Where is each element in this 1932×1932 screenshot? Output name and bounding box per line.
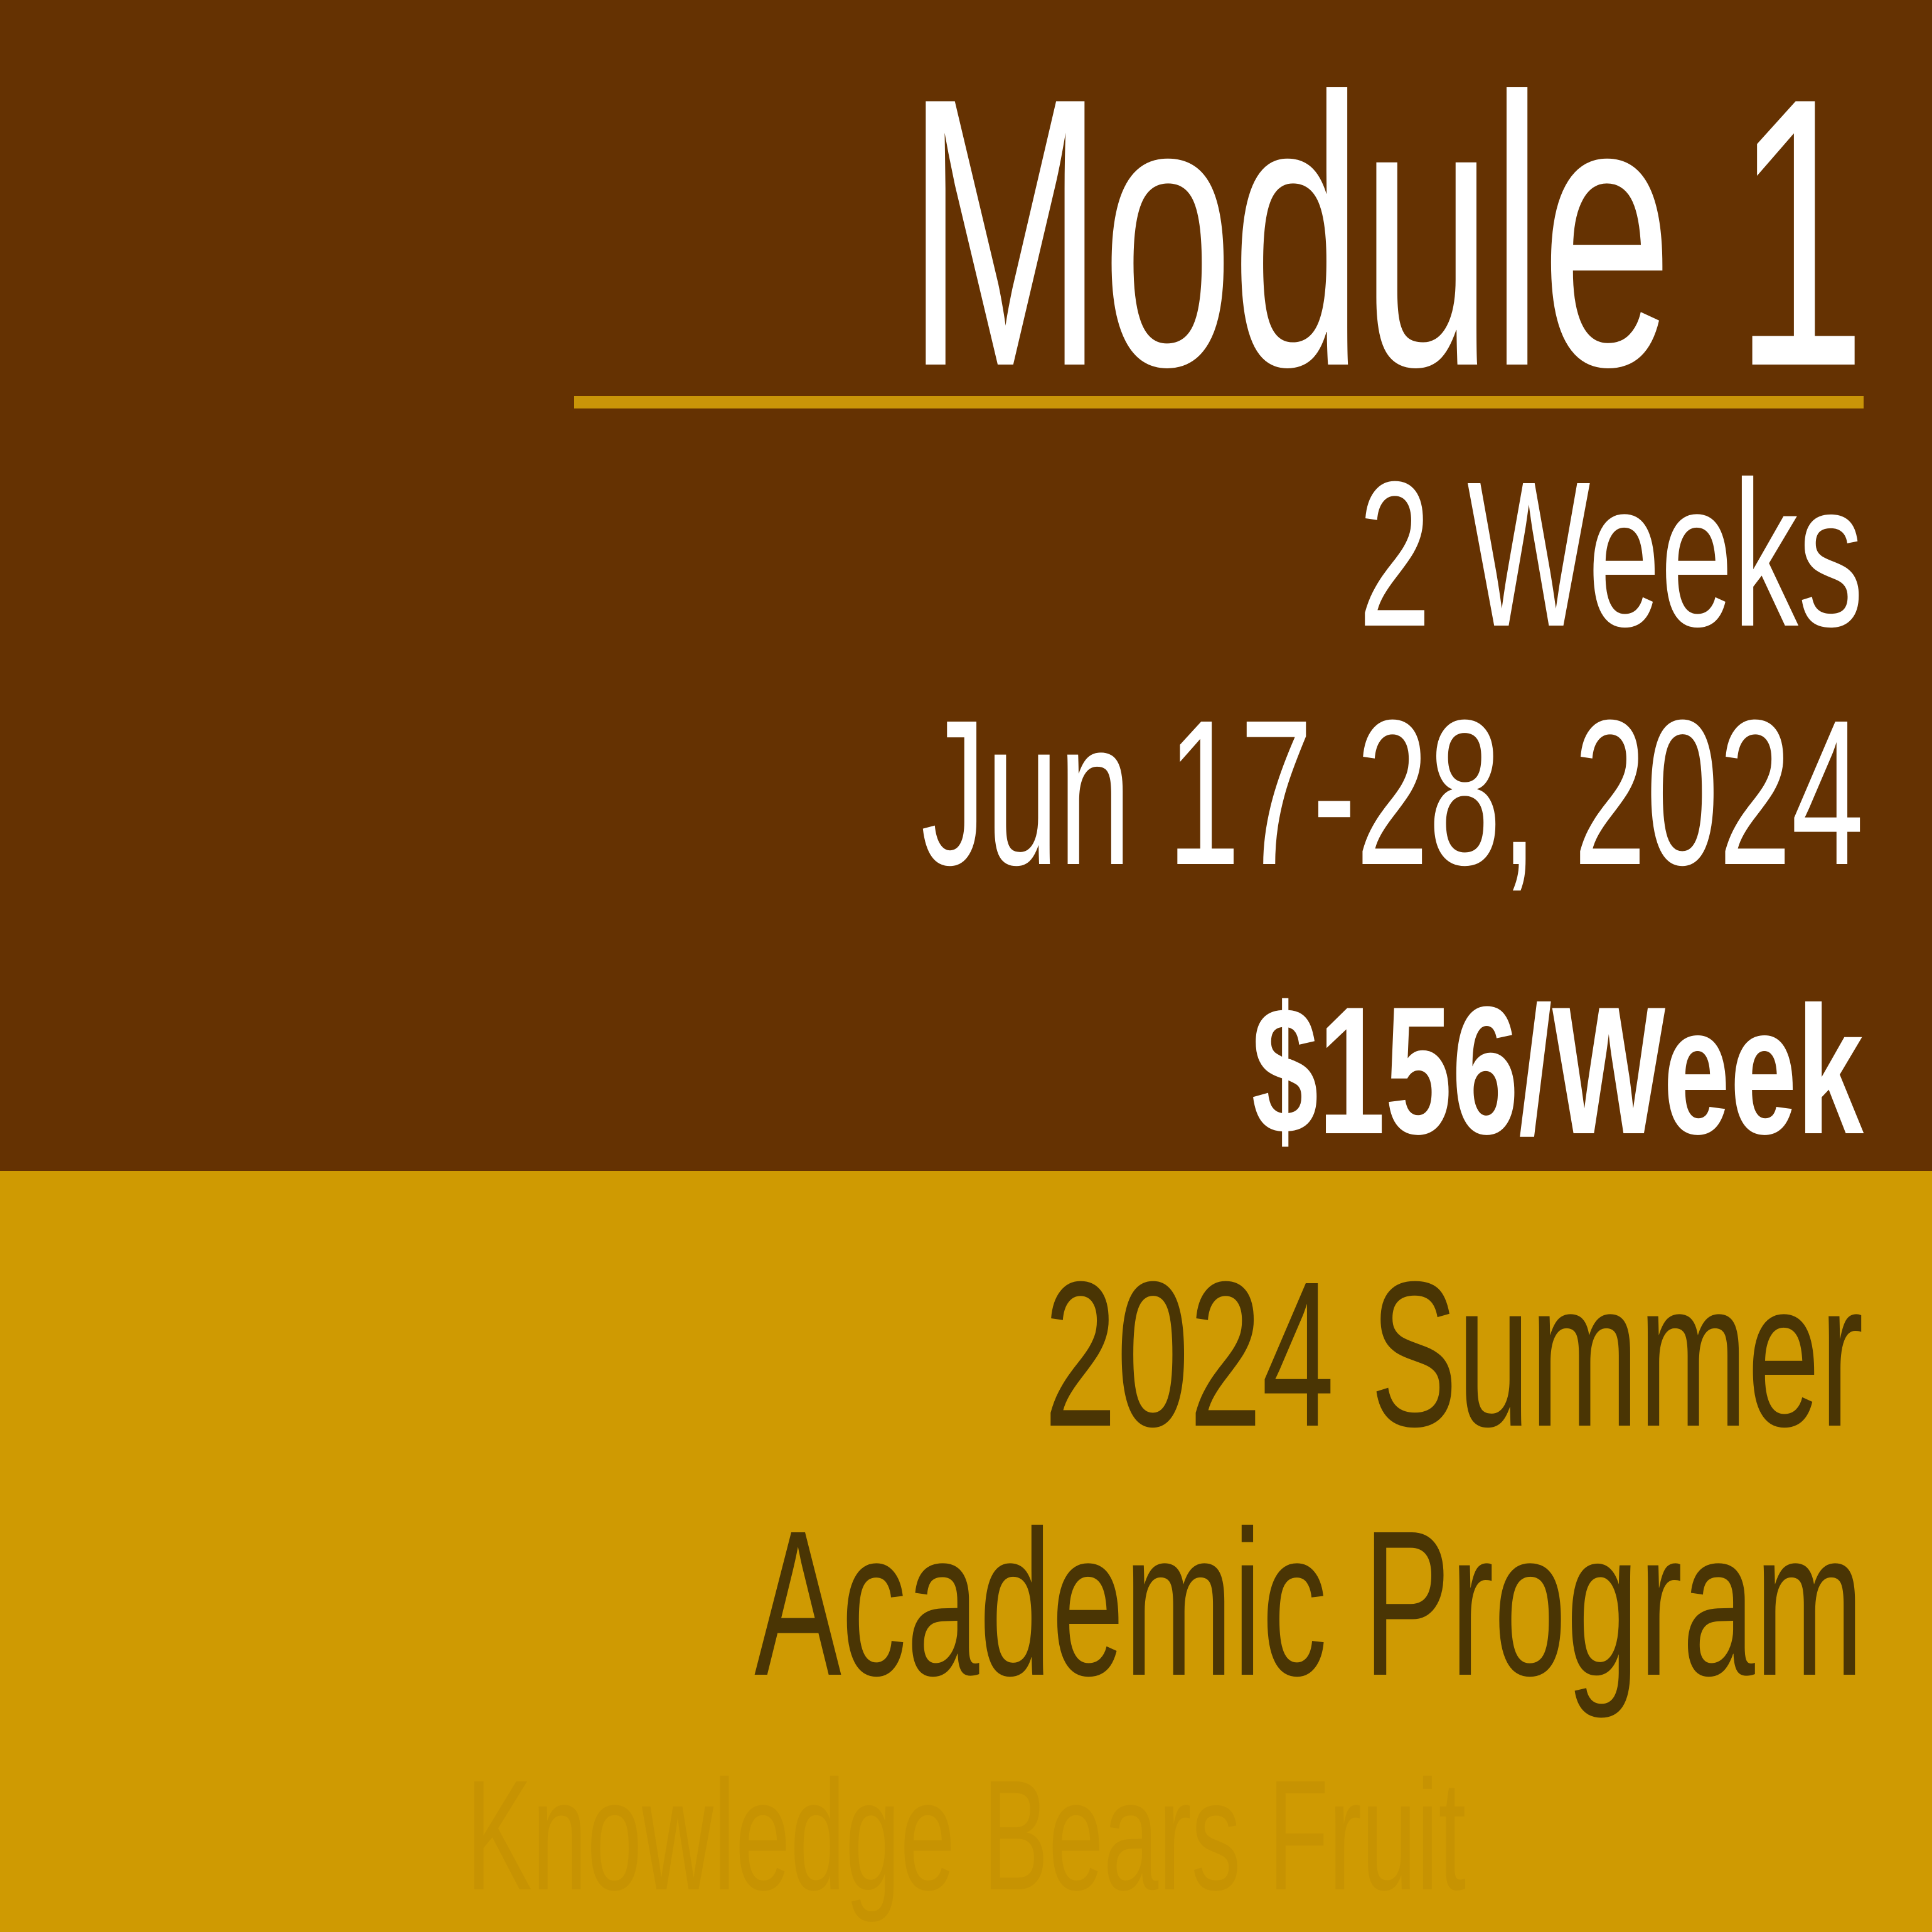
- duration-label: 2 Weeks: [0, 451, 1864, 658]
- program-tagline-text: Knowledge Bears Fruit: [466, 1757, 1466, 1914]
- module-promo-card: Module 1 2 Weeks Jun 17-28, 2024 $156/We…: [0, 0, 1932, 1932]
- price-text: $156/Week: [1251, 979, 1864, 1161]
- duration-text: 2 Weeks: [1358, 451, 1864, 658]
- program-tagline: Knowledge Bears Fruit: [0, 1757, 1932, 1914]
- program-name-line-1-text: 2024 Summer: [1044, 1251, 1864, 1458]
- program-name-line-2: Academic Program: [0, 1500, 1864, 1707]
- title-underline-rule: [574, 396, 1864, 408]
- module-title-text: Module 1: [906, 41, 1864, 424]
- price-label: $156/Week: [0, 979, 1864, 1161]
- program-name-line-1: 2024 Summer: [0, 1251, 1864, 1458]
- module-title: Module 1: [0, 41, 1864, 424]
- dates-label: Jun 17-28, 2024: [0, 689, 1864, 896]
- program-name-line-2-text: Academic Program: [754, 1500, 1864, 1707]
- dates-text: Jun 17-28, 2024: [921, 689, 1864, 896]
